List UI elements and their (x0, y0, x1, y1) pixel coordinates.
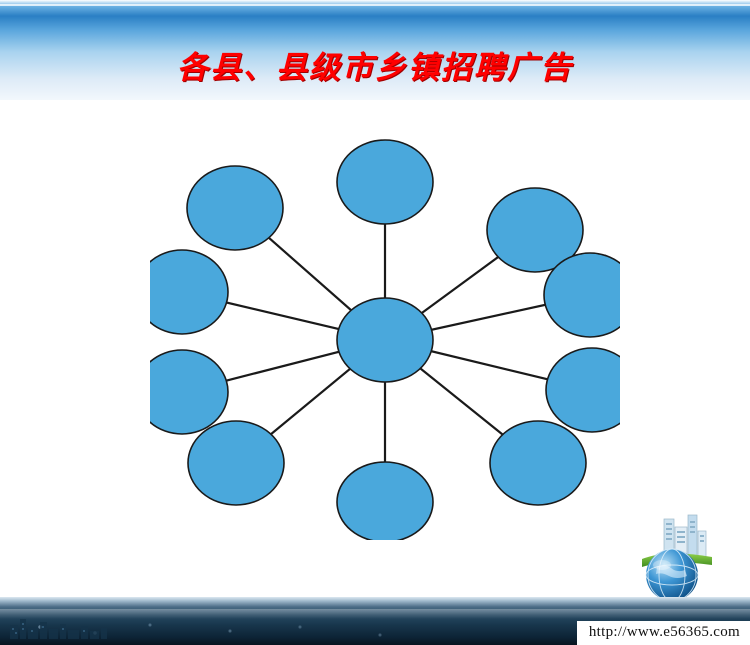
diagram-node (490, 421, 586, 505)
watermark-url: http://www.e56365.com (577, 621, 750, 645)
header-highlight-line (0, 4, 750, 6)
diagram-center-node (337, 298, 433, 382)
diagram-node (188, 421, 284, 505)
page-title: 各县、县级市乡镇招聘广告 (0, 42, 750, 87)
diagram-node (187, 166, 283, 250)
diagram-node (150, 350, 228, 434)
city-skyline-icon (8, 613, 128, 639)
diagram-node (150, 250, 228, 334)
radial-diagram (150, 110, 620, 540)
diagram-node (337, 140, 433, 224)
slide-canvas: 各县、县级市乡镇招聘广告 (0, 0, 750, 645)
diagram-node (337, 462, 433, 540)
globe-with-buildings-icon (612, 513, 722, 603)
diagram-node (546, 348, 620, 432)
